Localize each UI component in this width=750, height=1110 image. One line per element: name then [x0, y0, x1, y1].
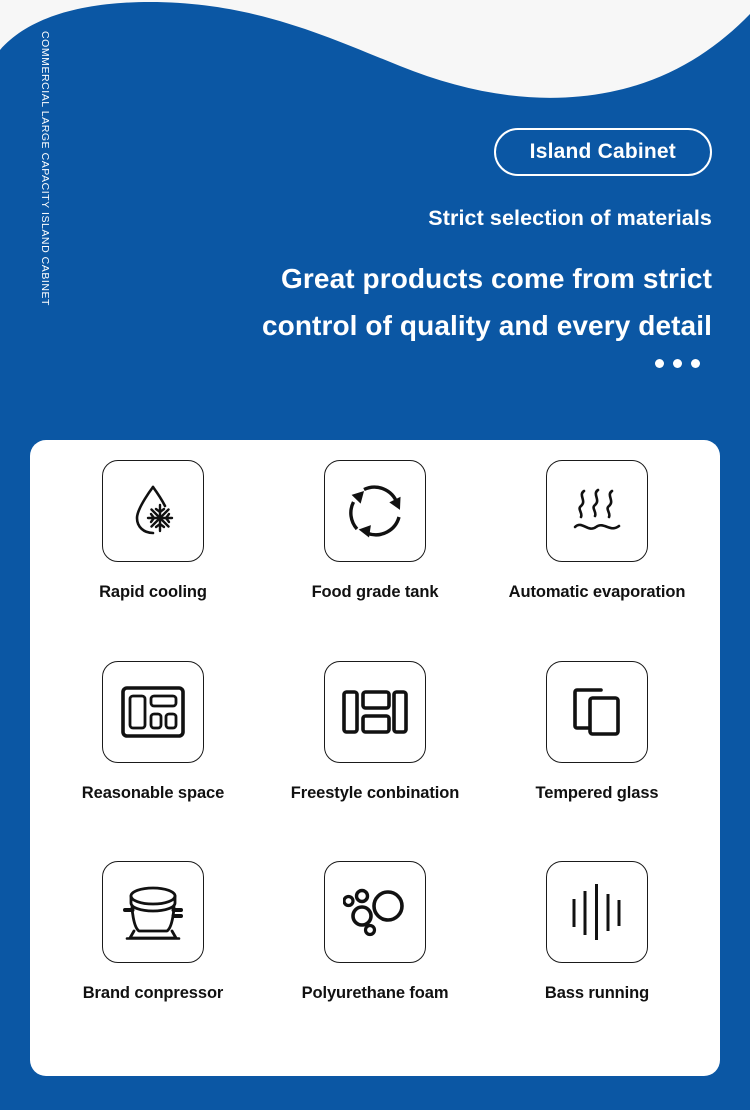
feature-label: Bass running: [545, 984, 649, 1003]
feature-label: Polyurethane foam: [302, 984, 449, 1003]
feature-label: Tempered glass: [535, 784, 658, 803]
feature-item[interactable]: Freestyle conbination: [264, 661, 486, 862]
feature-label: Brand conpressor: [83, 984, 224, 1003]
feature-item[interactable]: Automatic evaporation: [486, 460, 708, 661]
feature-item[interactable]: Polyurethane foam: [264, 861, 486, 1062]
hero-headline-line-1: Great products come from strict: [192, 255, 712, 302]
droplet-snowflake-icon: [102, 460, 204, 562]
feature-label: Freestyle conbination: [291, 784, 459, 803]
features-grid: Rapid cooling Food grade tank: [42, 460, 708, 1062]
dot-icon: [673, 359, 682, 368]
steam-water-icon: [546, 460, 648, 562]
feature-item[interactable]: Tempered glass: [486, 661, 708, 862]
overlapping-panes-icon: [546, 661, 648, 763]
dot-icon: [691, 359, 700, 368]
feature-label: Automatic evaporation: [509, 583, 686, 602]
layout-compartments-icon: [102, 661, 204, 763]
feature-label: Food grade tank: [312, 583, 439, 602]
cycle-arrows-icon: [324, 460, 426, 562]
header-wave-decoration: [0, 0, 750, 130]
foam-bubbles-icon: [324, 861, 426, 963]
sound-bars-icon: [546, 861, 648, 963]
feature-item[interactable]: Bass running: [486, 861, 708, 1062]
ellipsis-dots: [192, 359, 712, 368]
modular-blocks-icon: [324, 661, 426, 763]
feature-label: Reasonable space: [82, 784, 224, 803]
feature-item[interactable]: Rapid cooling: [42, 460, 264, 661]
hero-headline: Great products come from strict control …: [192, 255, 712, 349]
hero-section: Island Cabinet Strict selection of mater…: [192, 128, 712, 368]
dot-icon: [655, 359, 664, 368]
vertical-side-label: COMMERCIAL LARGE CAPACITY ISLAND CABINET: [39, 31, 51, 331]
compressor-icon: [102, 861, 204, 963]
hero-headline-line-2: control of quality and every detail: [192, 302, 712, 349]
hero-subheading: Strict selection of materials: [192, 206, 712, 231]
features-card: Rapid cooling Food grade tank: [30, 440, 720, 1076]
feature-item[interactable]: Food grade tank: [264, 460, 486, 661]
feature-label: Rapid cooling: [99, 583, 207, 602]
island-cabinet-badge[interactable]: Island Cabinet: [494, 128, 712, 176]
feature-item[interactable]: Brand conpressor: [42, 861, 264, 1062]
feature-item[interactable]: Reasonable space: [42, 661, 264, 862]
